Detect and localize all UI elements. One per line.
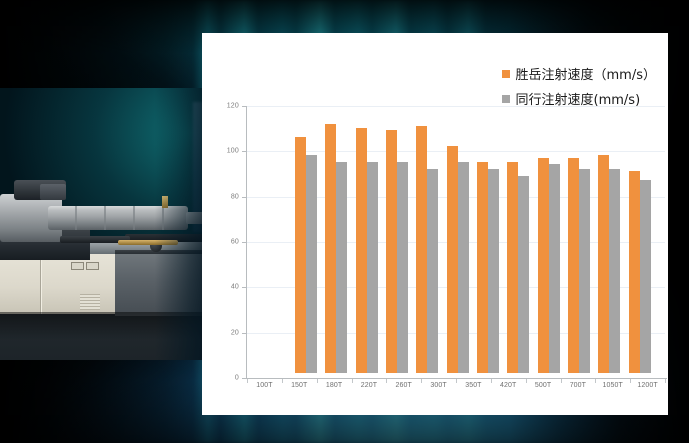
bar-series-1[interactable] xyxy=(609,169,620,373)
bar-series-0[interactable] xyxy=(598,155,609,373)
bar-series-1[interactable] xyxy=(549,164,560,373)
bar-series-0[interactable] xyxy=(356,128,367,373)
x-axis-labels: 100T150T180T220T260T300T350T420T500T700T… xyxy=(247,382,665,389)
bar-group[interactable] xyxy=(382,105,412,373)
x-axis-tick-label: 1050T xyxy=(595,382,630,389)
bar-group[interactable] xyxy=(625,105,655,373)
x-axis-tick-label: 150T xyxy=(282,382,317,389)
y-axis-tick-label: 40 xyxy=(202,284,246,291)
bar-group[interactable] xyxy=(534,105,564,373)
bar-group[interactable] xyxy=(291,105,321,373)
x-axis-tick-label: 220T xyxy=(351,382,386,389)
x-axis-tick-label: 260T xyxy=(386,382,421,389)
x-axis-tickmark xyxy=(665,379,666,383)
bar-series-0[interactable] xyxy=(629,171,640,373)
bar-series-1[interactable] xyxy=(518,176,529,373)
bar-series-1[interactable] xyxy=(640,180,651,373)
chart-legend: 胜岳注射速度（mm/s） 同行注射速度(mm/s) xyxy=(502,64,656,108)
y-axis-tick-label: 80 xyxy=(202,193,246,200)
y-axis-tick-label: 60 xyxy=(202,239,246,246)
bar-series-0[interactable] xyxy=(416,126,427,373)
chart-panel: 胜岳注射速度（mm/s） 同行注射速度(mm/s) 02040608010012… xyxy=(202,33,668,415)
x-axis-tick-label: 420T xyxy=(491,382,526,389)
slide-canvas: 胜岳注射速度（mm/s） 同行注射速度(mm/s) 02040608010012… xyxy=(0,0,689,443)
bar-series-1[interactable] xyxy=(458,162,469,373)
bar-series-0[interactable] xyxy=(538,158,549,373)
bar-group[interactable] xyxy=(321,105,351,373)
bar-group[interactable] xyxy=(473,105,503,373)
legend-label: 胜岳注射速度（mm/s） xyxy=(516,64,656,83)
injection-molding-machine-photo xyxy=(0,88,215,360)
bar-series-1[interactable] xyxy=(336,162,347,373)
bar-series-0[interactable] xyxy=(507,162,518,373)
bar-series-1[interactable] xyxy=(427,169,438,373)
x-axis-tick-label: 100T xyxy=(247,382,282,389)
bar-group[interactable] xyxy=(352,105,382,373)
bar-group[interactable] xyxy=(564,105,594,373)
bar-group[interactable] xyxy=(412,105,442,373)
bar-series-1[interactable] xyxy=(397,162,408,373)
legend-swatch-icon xyxy=(502,95,510,103)
bar-series-0[interactable] xyxy=(325,124,336,373)
bar-series-0[interactable] xyxy=(568,158,579,373)
bar-group[interactable] xyxy=(503,105,533,373)
legend-item-series-0[interactable]: 胜岳注射速度（mm/s） xyxy=(502,64,656,83)
photo-edge-fade xyxy=(0,88,215,360)
bar-series-1[interactable] xyxy=(488,169,499,373)
y-axis-tick-label: 20 xyxy=(202,329,246,336)
y-axis-tick-label: 120 xyxy=(202,103,246,110)
bar-series-0[interactable] xyxy=(477,162,488,373)
plot-area xyxy=(246,105,658,373)
x-axis-tick-label: 350T xyxy=(456,382,491,389)
legend-swatch-icon xyxy=(502,70,510,78)
x-axis-tick-label: 1200T xyxy=(630,382,665,389)
bar-series-1[interactable] xyxy=(306,155,317,373)
bar-series-0[interactable] xyxy=(295,137,306,373)
bar-groups xyxy=(291,105,655,373)
bar-series-1[interactable] xyxy=(579,169,590,373)
x-axis-tick-label: 180T xyxy=(317,382,352,389)
bar-series-0[interactable] xyxy=(386,130,397,373)
bar-series-0[interactable] xyxy=(447,146,458,373)
x-axis-tick-label: 700T xyxy=(560,382,595,389)
y-axis-tick-label: 0 xyxy=(202,375,246,382)
bar-group[interactable] xyxy=(443,105,473,373)
y-axis-tick-label: 100 xyxy=(202,148,246,155)
bar-group[interactable] xyxy=(594,105,624,373)
bar-series-1[interactable] xyxy=(367,162,378,373)
x-axis-tick-label: 300T xyxy=(421,382,456,389)
x-axis-tick-label: 500T xyxy=(526,382,561,389)
